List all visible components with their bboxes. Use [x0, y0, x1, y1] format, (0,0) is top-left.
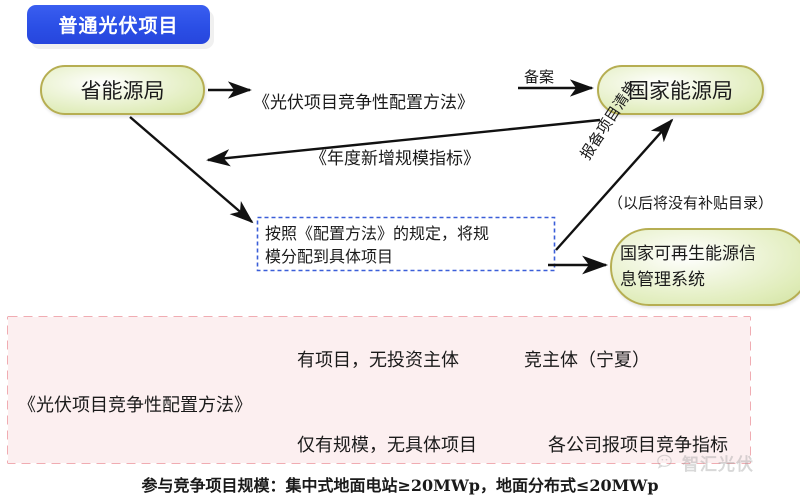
node-allocation-rule-line1: 按照《配置方法》的规定，将规 [265, 222, 547, 245]
pink-branch-b-condition: 仅有规模，无具体项目 [297, 431, 477, 457]
diagram-canvas: 普通光伏项目 省能源局 国家能源局 国家可再生能源信 息管理系统 按照《配置方法… [0, 0, 800, 496]
node-allocation-rule[interactable]: 按照《配置方法》的规定，将规 模分配到具体项目 [257, 217, 555, 271]
pink-branch-a-result: 竞主体（宁夏） [524, 346, 650, 372]
page-title-text: 普通光伏项目 [27, 5, 210, 44]
bottom-caption: 参与竞争项目规模：集中式地面电站≥20MWp，地面分布式≤20MWp [0, 472, 800, 496]
node-renewable-energy-info-system-line2: 息管理系统 [612, 267, 800, 293]
edge-label-annual-new-scale-index: 《年度新增规模指标》 [310, 144, 480, 169]
edge-label-competitive-allocation-method: 《光伏项目竞争性配置方法》 [253, 88, 474, 113]
node-national-energy-administration-label: 国家能源局 [628, 75, 733, 105]
node-provincial-energy-bureau-label: 省能源局 [81, 75, 165, 105]
node-renewable-energy-info-system-line1: 国家可再生能源信 [612, 241, 800, 267]
node-allocation-rule-line2: 模分配到具体项目 [265, 245, 547, 268]
wechat-icon [657, 454, 677, 471]
watermark: 智汇光伏 [657, 450, 754, 475]
node-provincial-energy-bureau[interactable]: 省能源局 [40, 65, 205, 115]
note-no-subsidy-catalog: （以后将没有补贴目录） [608, 192, 773, 213]
edge-label-filing: 备案 [524, 66, 554, 87]
watermark-text: 智汇光伏 [682, 450, 754, 475]
node-renewable-energy-info-system[interactable]: 国家可再生能源信 息管理系统 [610, 228, 800, 306]
page-title-banner: 普通光伏项目 [27, 5, 210, 44]
pink-method-title: 《光伏项目竞争性配置方法》 [18, 391, 252, 417]
pink-branch-a-condition: 有项目，无投资主体 [297, 346, 459, 372]
arrow-prov-to-allocation [130, 117, 252, 222]
